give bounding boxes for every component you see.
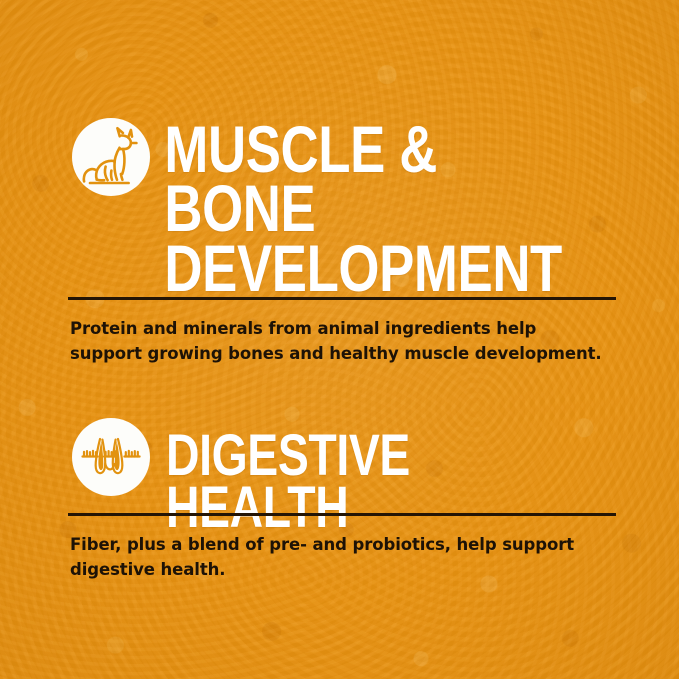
benefit-section-muscle-bone: MUSCLE & BONE DEVELOPMENT bbox=[0, 118, 679, 298]
benefits-poster: MUSCLE & BONE DEVELOPMENT Protein and mi… bbox=[0, 0, 679, 679]
intestinal-villi-icon bbox=[72, 418, 150, 496]
sitting-dog-icon bbox=[72, 118, 150, 196]
benefit-header-row: DIGESTIVE HEALTH bbox=[0, 418, 679, 534]
section-divider-1 bbox=[68, 297, 616, 300]
benefit-heading-muscle-bone: MUSCLE & BONE DEVELOPMENT bbox=[150, 120, 573, 298]
poster-content: MUSCLE & BONE DEVELOPMENT Protein and mi… bbox=[0, 0, 679, 679]
benefit-body-muscle-bone: Protein and minerals from animal ingredi… bbox=[70, 316, 610, 366]
section-divider-2 bbox=[68, 513, 616, 516]
benefit-body-digestive-health: Fiber, plus a blend of pre- and probioti… bbox=[70, 532, 610, 582]
benefit-section-digestive-health: DIGESTIVE HEALTH bbox=[0, 418, 679, 534]
benefit-header-row: MUSCLE & BONE DEVELOPMENT bbox=[0, 118, 679, 298]
benefit-heading-digestive-health: DIGESTIVE HEALTH bbox=[150, 430, 573, 534]
